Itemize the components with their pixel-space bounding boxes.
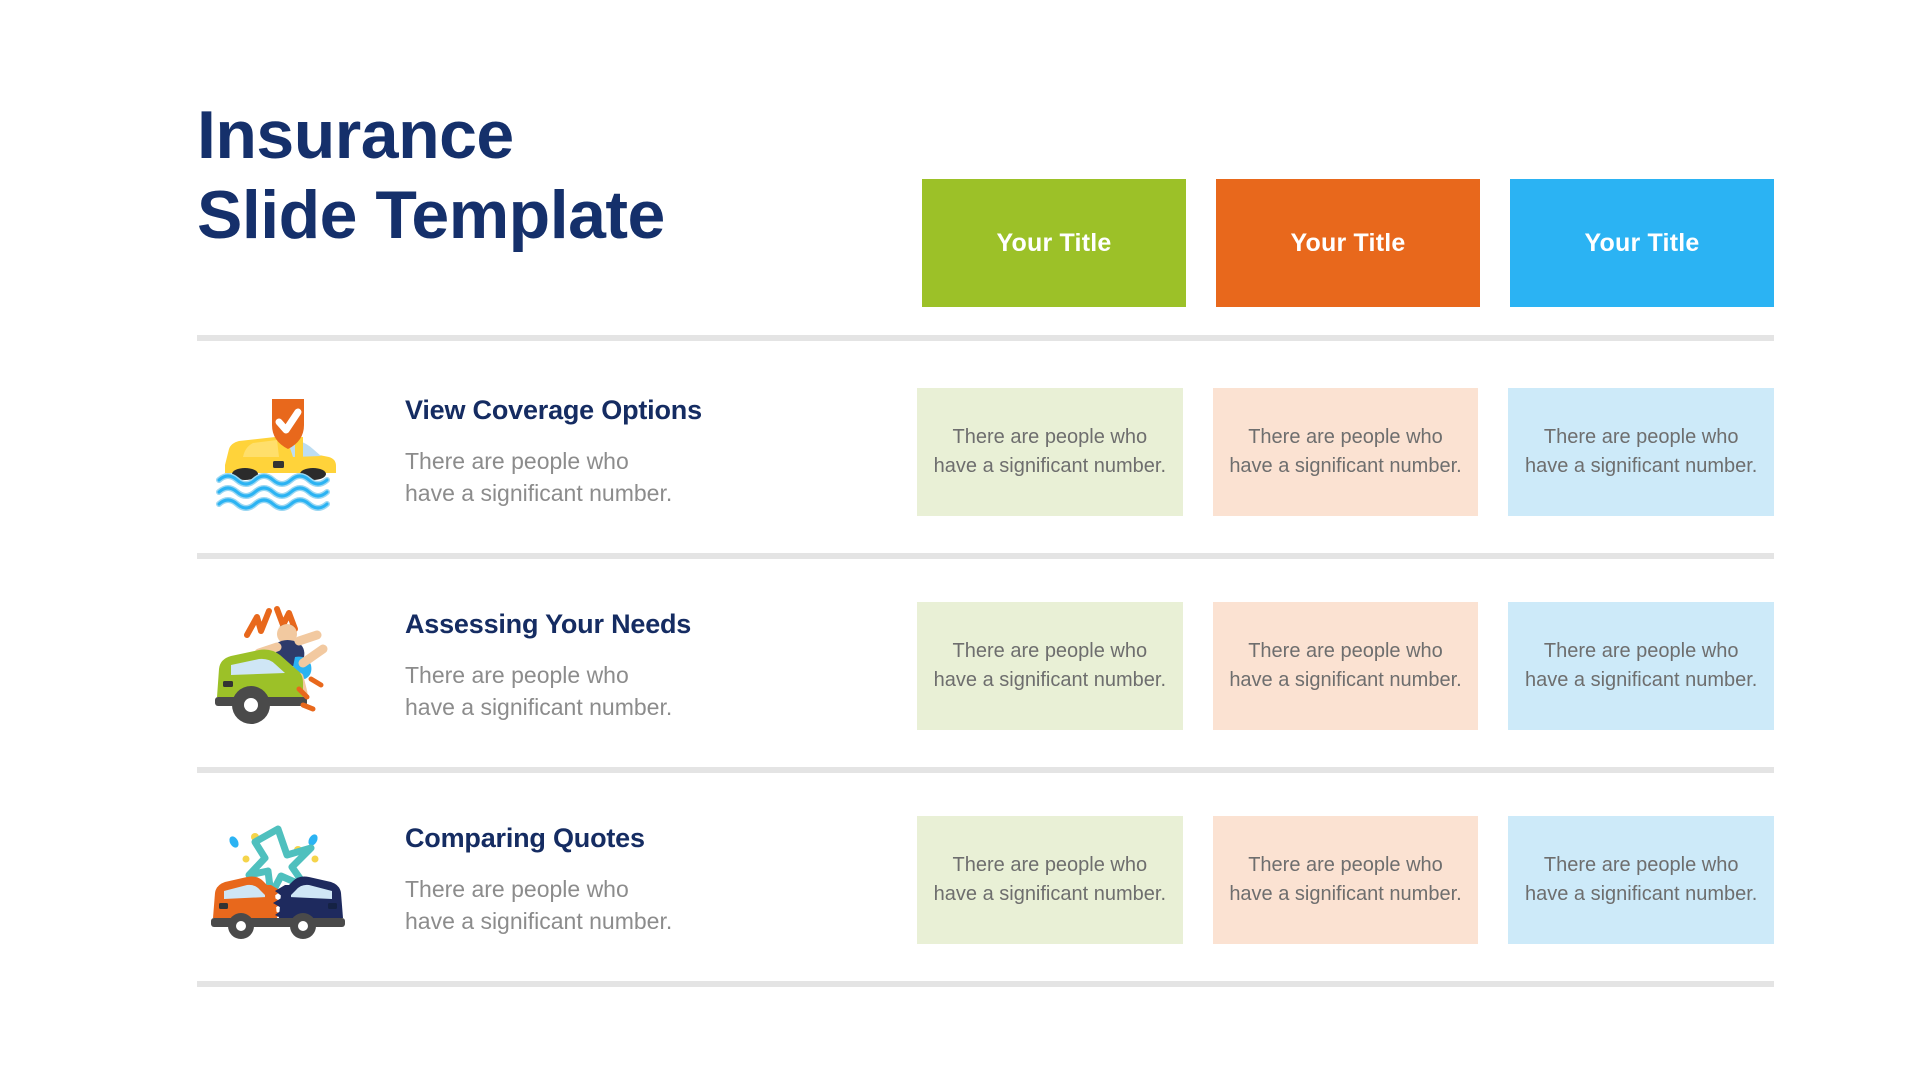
slide-canvas: Insurance Slide Template Your Title Your… (0, 0, 1920, 1080)
row-description: There are people who have a significant … (405, 445, 875, 510)
header-card-orange[interactable]: Your Title (1216, 179, 1480, 307)
divider-row2-row3 (197, 767, 1774, 773)
page-title: Insurance Slide Template (197, 95, 917, 255)
header-card-green[interactable]: Your Title (922, 179, 1186, 307)
row-cell-group: There are people who have a significant … (917, 602, 1774, 730)
divider-top (197, 335, 1774, 341)
cell-green[interactable]: There are people who have a significant … (917, 602, 1183, 730)
row-heading: Assessing Your Needs (405, 608, 875, 640)
row-text-block: Comparing Quotes There are people who ha… (405, 822, 885, 938)
row-cell-group: There are people who have a significant … (917, 816, 1774, 944)
divider-row1-row2 (197, 553, 1774, 559)
cell-orange[interactable]: There are people who have a significant … (1213, 388, 1479, 516)
table-row: Comparing Quotes There are people who ha… (197, 780, 1774, 980)
cell-green[interactable]: There are people who have a significant … (917, 388, 1183, 516)
divider-bottom (197, 981, 1774, 987)
row-description: There are people who have a significant … (405, 659, 875, 724)
cell-orange[interactable]: There are people who have a significant … (1213, 816, 1479, 944)
two-car-crash-icon (203, 815, 353, 945)
header-card-blue[interactable]: Your Title (1510, 179, 1774, 307)
cell-blue[interactable]: There are people who have a significant … (1508, 602, 1774, 730)
row-description: There are people who have a significant … (405, 873, 875, 938)
car-flood-shield-icon (203, 387, 353, 517)
header-card-green-label: Your Title (997, 229, 1112, 258)
header-card-blue-label: Your Title (1585, 229, 1700, 258)
cell-orange[interactable]: There are people who have a significant … (1213, 602, 1479, 730)
car-pedestrian-collision-icon (203, 601, 353, 731)
header-card-orange-label: Your Title (1291, 229, 1406, 258)
row-text-block: View Coverage Options There are people w… (405, 394, 885, 510)
cell-blue[interactable]: There are people who have a significant … (1508, 816, 1774, 944)
row-cell-group: There are people who have a significant … (917, 388, 1774, 516)
table-row: Assessing Your Needs There are people wh… (197, 566, 1774, 766)
row-text-block: Assessing Your Needs There are people wh… (405, 608, 885, 724)
row-heading: Comparing Quotes (405, 822, 875, 854)
table-row: View Coverage Options There are people w… (197, 352, 1774, 552)
slide-header: Insurance Slide Template Your Title Your… (197, 95, 1774, 310)
row-heading: View Coverage Options (405, 394, 875, 426)
cell-green[interactable]: There are people who have a significant … (917, 816, 1183, 944)
header-card-group: Your Title Your Title Your Title (922, 179, 1774, 307)
cell-blue[interactable]: There are people who have a significant … (1508, 388, 1774, 516)
